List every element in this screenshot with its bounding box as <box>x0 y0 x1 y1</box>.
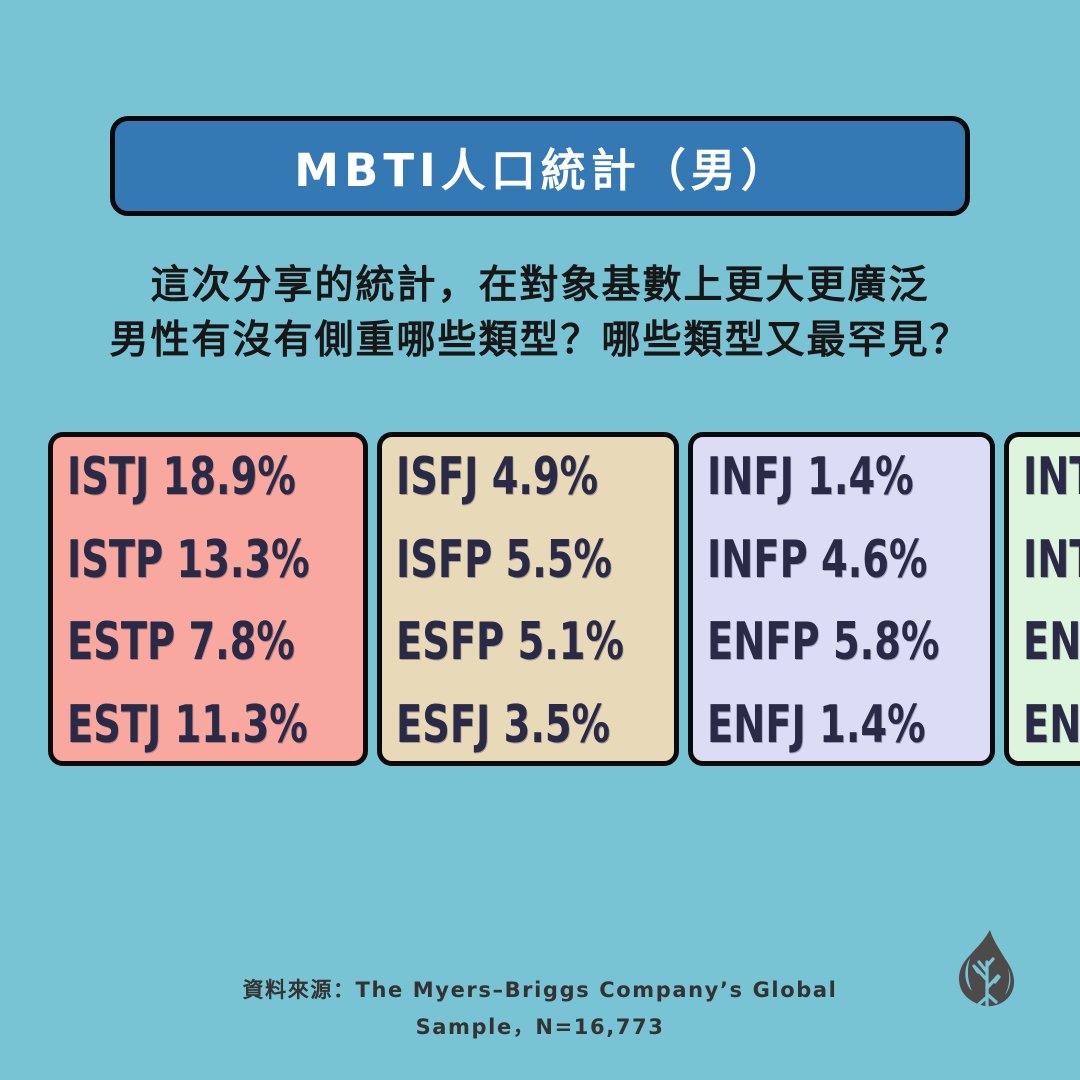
mbti-card-sf: ISFJ 4.9% ISFP 5.5% ESFP 5.1% ESFJ 3.5% <box>377 432 679 766</box>
source-line-1: 資料來源：The Myers–Briggs Company’s Global <box>0 972 1080 1009</box>
source-citation: 資料來源：The Myers–Briggs Company’s Global S… <box>0 972 1080 1046</box>
flame-leaf-tree-logo-icon <box>952 928 1022 1010</box>
mbti-row-estp: ESTP 7.8% <box>67 616 310 668</box>
subtitle-block: 這次分享的統計，在對象基數上更大更廣泛 男性有沒有側重哪些類型？哪些類型又最罕見… <box>0 258 1080 368</box>
mbti-row-entp: ENTP 5.1% <box>1023 616 1080 668</box>
mbti-card-nt: INTJ 3% INTP 5.8% ENTP 5.1% ENTJ 2.3% <box>1004 432 1080 766</box>
mbti-row-infj: INFJ 1.4% <box>707 451 939 503</box>
subtitle-line-2: 男性有沒有側重哪些類型？哪些類型又最罕見？ <box>0 313 1080 368</box>
mbti-row-esfj: ESFJ 3.5% <box>396 699 624 751</box>
mbti-card-st: ISTJ 18.9% ISTP 13.3% ESTP 7.8% ESTJ 11.… <box>48 432 368 766</box>
mbti-row-enfp: ENFP 5.8% <box>707 616 939 668</box>
source-line-2: Sample，N=16,773 <box>0 1009 1080 1046</box>
subtitle-line-1: 這次分享的統計，在對象基數上更大更廣泛 <box>0 258 1080 313</box>
page-title: MBTI人口統計（男） <box>289 134 791 199</box>
mbti-row-estj: ESTJ 11.3% <box>67 699 310 751</box>
mbti-row-isfj: ISFJ 4.9% <box>396 451 624 503</box>
mbti-row-entj: ENTJ 2.3% <box>1023 699 1080 751</box>
mbti-row-enfj: ENFJ 1.4% <box>707 699 939 751</box>
title-banner: MBTI人口統計（男） <box>110 116 970 216</box>
mbti-row-intj: INTJ 3% <box>1023 451 1080 503</box>
mbti-row-intp: INTP 5.8% <box>1023 534 1080 586</box>
mbti-row-isfp: ISFP 5.5% <box>396 534 624 586</box>
mbti-card-nf: INFJ 1.4% INFP 4.6% ENFP 5.8% ENFJ 1.4% <box>688 432 995 766</box>
mbti-card-row: ISTJ 18.9% ISTP 13.3% ESTP 7.8% ESTJ 11.… <box>48 432 1034 766</box>
mbti-row-esfp: ESFP 5.1% <box>396 616 624 668</box>
mbti-row-infp: INFP 4.6% <box>707 534 939 586</box>
mbti-row-istj: ISTJ 18.9% <box>67 451 310 503</box>
mbti-row-istp: ISTP 13.3% <box>67 534 310 586</box>
